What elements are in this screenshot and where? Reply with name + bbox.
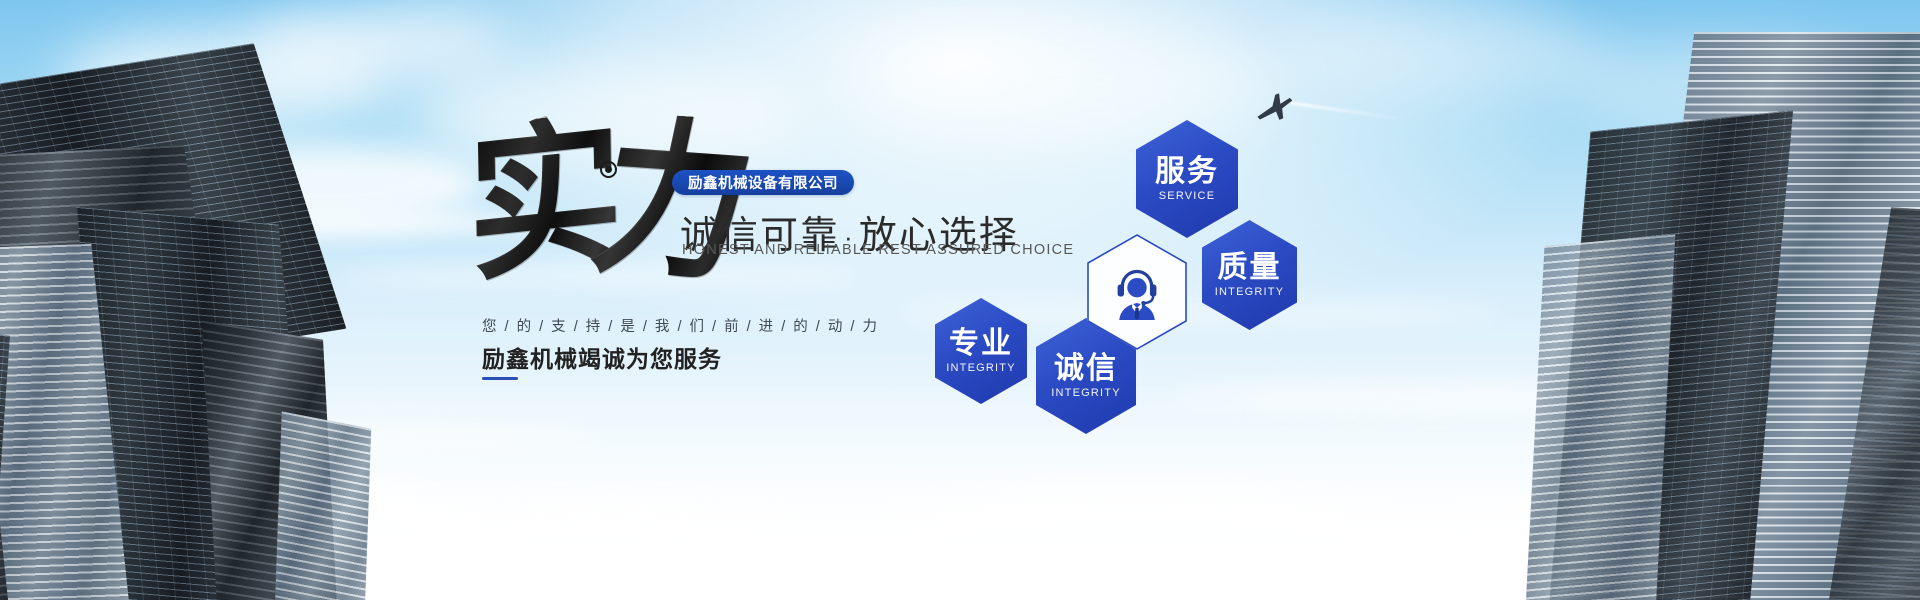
hex-quality-en: INTEGRITY bbox=[1215, 286, 1284, 298]
hex-professional-en: INTEGRITY bbox=[946, 362, 1015, 374]
hex-honesty-cn: 诚信 bbox=[1054, 353, 1118, 385]
hex-quality[interactable]: 质量 INTEGRITY bbox=[1202, 220, 1297, 330]
hex-service-en: SERVICE bbox=[1159, 190, 1216, 202]
hex-service[interactable]: 服务 SERVICE bbox=[1136, 120, 1238, 238]
hex-honesty-en: INTEGRITY bbox=[1051, 387, 1120, 399]
hex-professional-cn: 专业 bbox=[949, 328, 1013, 360]
promo-banner: 实力 励鑫机械设备有限公司 诚信可靠·放心选择 HONEST AND RELIA… bbox=[0, 0, 1920, 600]
hex-quality-cn: 质量 bbox=[1218, 252, 1282, 284]
hex-professional[interactable]: 专业 INTEGRITY bbox=[935, 298, 1027, 404]
headset-agent-icon bbox=[1111, 265, 1163, 320]
hexagon-group: 服务 SERVICE 质量 INTEGRITY 专业 INTEGRITY 诚信 … bbox=[0, 0, 1920, 600]
hex-service-cn: 服务 bbox=[1155, 156, 1219, 188]
